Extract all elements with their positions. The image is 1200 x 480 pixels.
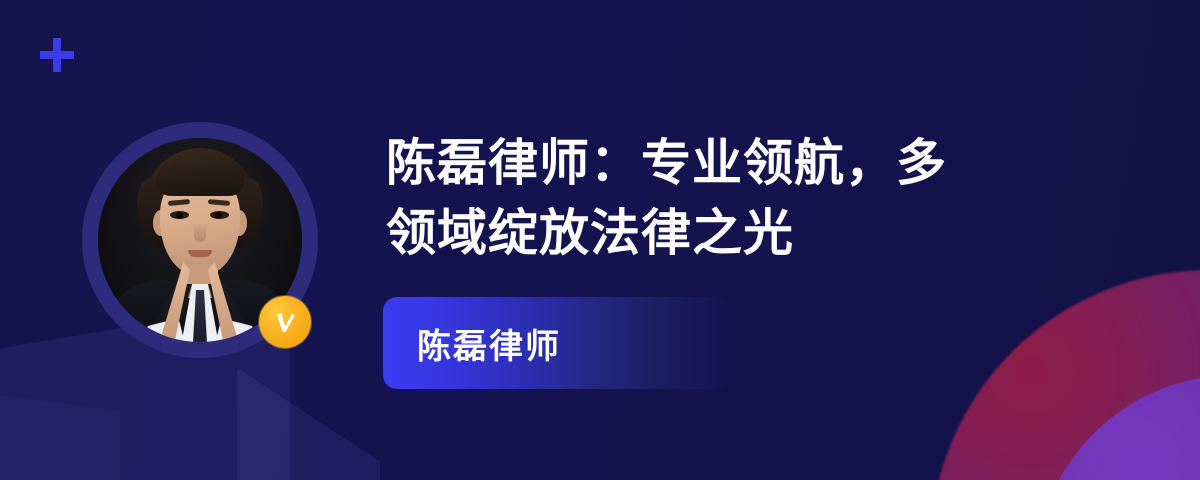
plus-icon: [40, 38, 74, 72]
verified-v-icon: [259, 296, 311, 348]
profile-banner: 陈磊律师：专业领航，多 领域绽放法律之光 陈磊律师: [0, 0, 1200, 480]
page-title: 陈磊律师：专业领航，多 领域绽放法律之光: [386, 128, 1086, 268]
lawyer-name-button[interactable]: 陈磊律师: [383, 297, 731, 389]
